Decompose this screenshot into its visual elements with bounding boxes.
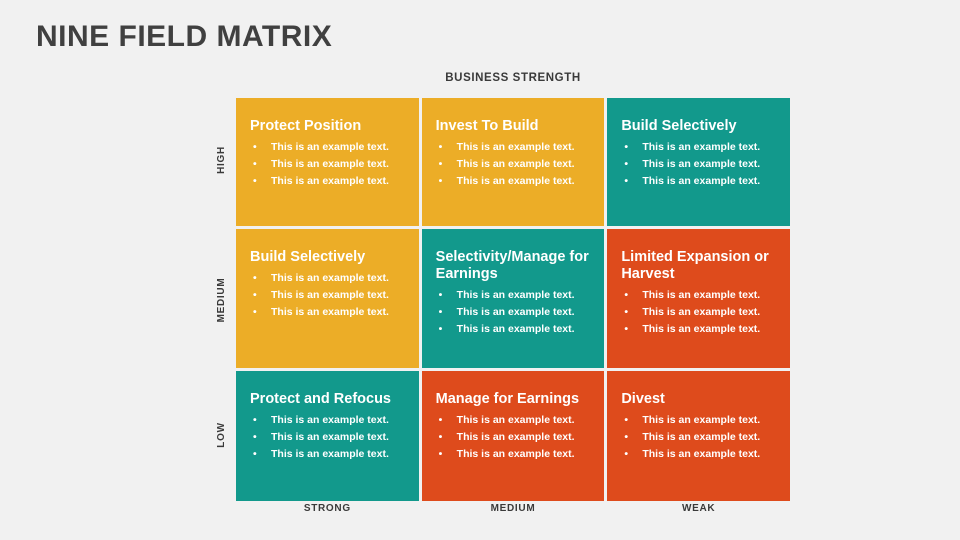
matrix-cell-bullet-item: •This is an example text. <box>621 321 776 338</box>
matrix-cell-bullet-text: This is an example text. <box>457 141 575 153</box>
matrix-cell-bullet-item: •This is an example text. <box>621 446 776 463</box>
matrix-cell-bullet-text: This is an example text. <box>457 431 575 443</box>
matrix-cell-bullet-text: This is an example text. <box>271 414 389 426</box>
bullet-icon: • <box>624 304 628 321</box>
bullet-icon: • <box>624 173 628 190</box>
matrix-cell-bullet-list: •This is an example text.•This is an exa… <box>436 139 591 190</box>
nine-field-matrix-grid: Protect Position•This is an example text… <box>236 98 790 495</box>
matrix-cell-bullet-text: This is an example text. <box>271 158 389 170</box>
matrix-cell-title: Invest To Build <box>436 118 591 135</box>
matrix-cell-bullet-item: •This is an example text. <box>436 429 591 446</box>
y-tick-low: LOW <box>216 375 227 495</box>
bullet-icon: • <box>253 446 257 463</box>
x-axis-title: BUSINESS STRENGTH <box>236 72 790 84</box>
matrix-cell-bullet-list: •This is an example text.•This is an exa… <box>621 287 776 338</box>
matrix-cell-bullet-text: This is an example text. <box>457 175 575 187</box>
matrix-cell-bullet-item: •This is an example text. <box>621 304 776 321</box>
matrix-cell-bullet-text: This is an example text. <box>271 431 389 443</box>
bullet-icon: • <box>624 412 628 429</box>
matrix-cell-bullet-item: •This is an example text. <box>436 156 591 173</box>
matrix-cell-bullet-text: This is an example text. <box>271 175 389 187</box>
matrix-cell-bullet-item: •This is an example text. <box>621 156 776 173</box>
matrix-cell-bullet-text: This is an example text. <box>457 289 575 301</box>
bullet-icon: • <box>439 304 443 321</box>
matrix-cell-title: Limited Expansion or Harvest <box>621 249 776 283</box>
matrix-cell-bullet-item: •This is an example text. <box>250 156 405 173</box>
bullet-icon: • <box>439 446 443 463</box>
bullet-icon: • <box>624 287 628 304</box>
matrix-cell[interactable]: Protect and Refocus•This is an example t… <box>236 371 419 501</box>
bullet-icon: • <box>253 412 257 429</box>
y-tick-medium: MEDIUM <box>216 240 227 360</box>
bullet-icon: • <box>253 139 257 156</box>
matrix-cell-bullet-item: •This is an example text. <box>250 139 405 156</box>
matrix-cell-bullet-text: This is an example text. <box>642 414 760 426</box>
matrix-cell-bullet-text: This is an example text. <box>271 272 389 284</box>
bullet-icon: • <box>253 173 257 190</box>
matrix-cell-bullet-item: •This is an example text. <box>436 321 591 338</box>
matrix-cell[interactable]: Protect Position•This is an example text… <box>236 98 419 226</box>
matrix-cell-bullet-text: This is an example text. <box>271 448 389 460</box>
bullet-icon: • <box>439 287 443 304</box>
matrix-cell-bullet-item: •This is an example text. <box>436 173 591 190</box>
x-tick-row: STRONG MEDIUM WEAK <box>236 503 790 514</box>
matrix-cell-bullet-item: •This is an example text. <box>436 412 591 429</box>
matrix-cell[interactable]: Limited Expansion or Harvest•This is an … <box>607 229 790 368</box>
matrix-cell-bullet-text: This is an example text. <box>457 448 575 460</box>
matrix-cell[interactable]: Selectivity/Manage for Earnings•This is … <box>422 229 605 368</box>
matrix-cell-bullet-item: •This is an example text. <box>250 270 405 287</box>
matrix-cell-bullet-item: •This is an example text. <box>436 139 591 156</box>
x-tick-strong: STRONG <box>236 503 419 514</box>
bullet-icon: • <box>439 173 443 190</box>
matrix-cell-bullet-item: •This is an example text. <box>436 287 591 304</box>
matrix-cell[interactable]: Build Selectively•This is an example tex… <box>607 98 790 226</box>
bullet-icon: • <box>253 270 257 287</box>
matrix-cell-bullet-list: •This is an example text.•This is an exa… <box>621 139 776 190</box>
matrix-cell-bullet-item: •This is an example text. <box>436 304 591 321</box>
bullet-icon: • <box>624 156 628 173</box>
bullet-icon: • <box>439 321 443 338</box>
matrix-cell-bullet-item: •This is an example text. <box>250 287 405 304</box>
matrix-cell-bullet-list: •This is an example text.•This is an exa… <box>250 270 405 321</box>
x-tick-medium: MEDIUM <box>422 503 605 514</box>
matrix-cell-bullet-item: •This is an example text. <box>250 446 405 463</box>
bullet-icon: • <box>439 156 443 173</box>
bullet-icon: • <box>253 429 257 446</box>
matrix-cell-bullet-text: This is an example text. <box>457 414 575 426</box>
matrix-cell[interactable]: Divest•This is an example text.•This is … <box>607 371 790 501</box>
matrix-cell-bullet-item: •This is an example text. <box>621 429 776 446</box>
matrix-cell-bullet-text: This is an example text. <box>642 158 760 170</box>
matrix-cell-bullet-item: •This is an example text. <box>621 139 776 156</box>
matrix-cell-title: Manage for Earnings <box>436 391 591 408</box>
y-tick-high: HIGH <box>216 100 227 220</box>
matrix-cell-title: Protect Position <box>250 118 405 135</box>
matrix-cell-title: Selectivity/Manage for Earnings <box>436 249 591 283</box>
matrix-cell-bullet-item: •This is an example text. <box>621 412 776 429</box>
bullet-icon: • <box>624 446 628 463</box>
bullet-icon: • <box>253 304 257 321</box>
matrix-cell-bullet-item: •This is an example text. <box>250 173 405 190</box>
matrix-cell-bullet-text: This is an example text. <box>457 158 575 170</box>
page-title: NINE FIELD MATRIX <box>36 20 332 54</box>
bullet-icon: • <box>624 321 628 338</box>
matrix-cell-bullet-item: •This is an example text. <box>250 304 405 321</box>
matrix-cell[interactable]: Manage for Earnings•This is an example t… <box>422 371 605 501</box>
matrix-cell[interactable]: Build Selectively•This is an example tex… <box>236 229 419 368</box>
matrix-cell-bullet-list: •This is an example text.•This is an exa… <box>436 287 591 338</box>
matrix-cell-bullet-text: This is an example text. <box>642 448 760 460</box>
matrix-cell-bullet-text: This is an example text. <box>642 141 760 153</box>
matrix-cell-bullet-item: •This is an example text. <box>436 446 591 463</box>
matrix-cell-bullet-list: •This is an example text.•This is an exa… <box>250 139 405 190</box>
x-tick-weak: WEAK <box>607 503 790 514</box>
matrix-cell-bullet-item: •This is an example text. <box>250 412 405 429</box>
matrix-cell-bullet-text: This is an example text. <box>271 289 389 301</box>
bullet-icon: • <box>439 139 443 156</box>
matrix-cell-bullet-text: This is an example text. <box>642 323 760 335</box>
bullet-icon: • <box>439 412 443 429</box>
matrix-cell-title: Build Selectively <box>621 118 776 135</box>
matrix-cell-title: Divest <box>621 391 776 408</box>
matrix-cell-bullet-list: •This is an example text.•This is an exa… <box>436 412 591 463</box>
matrix-cell-bullet-item: •This is an example text. <box>250 429 405 446</box>
matrix-cell-bullet-text: This is an example text. <box>642 431 760 443</box>
matrix-cell-title: Build Selectively <box>250 249 405 266</box>
matrix-cell-bullet-text: This is an example text. <box>271 306 389 318</box>
bullet-icon: • <box>253 287 257 304</box>
matrix-cell-bullet-text: This is an example text. <box>457 323 575 335</box>
bullet-icon: • <box>624 139 628 156</box>
bullet-icon: • <box>439 429 443 446</box>
matrix-cell-bullet-list: •This is an example text.•This is an exa… <box>621 412 776 463</box>
matrix-cell-bullet-text: This is an example text. <box>271 141 389 153</box>
matrix-cell-bullet-text: This is an example text. <box>642 306 760 318</box>
matrix-cell-bullet-list: •This is an example text.•This is an exa… <box>250 412 405 463</box>
matrix-cell[interactable]: Invest To Build•This is an example text.… <box>422 98 605 226</box>
matrix-cell-bullet-text: This is an example text. <box>642 289 760 301</box>
bullet-icon: • <box>253 156 257 173</box>
bullet-icon: • <box>624 429 628 446</box>
matrix-cell-bullet-item: •This is an example text. <box>621 287 776 304</box>
matrix-cell-bullet-item: •This is an example text. <box>621 173 776 190</box>
matrix-cell-bullet-text: This is an example text. <box>457 306 575 318</box>
matrix-cell-bullet-text: This is an example text. <box>642 175 760 187</box>
matrix-cell-title: Protect and Refocus <box>250 391 405 408</box>
